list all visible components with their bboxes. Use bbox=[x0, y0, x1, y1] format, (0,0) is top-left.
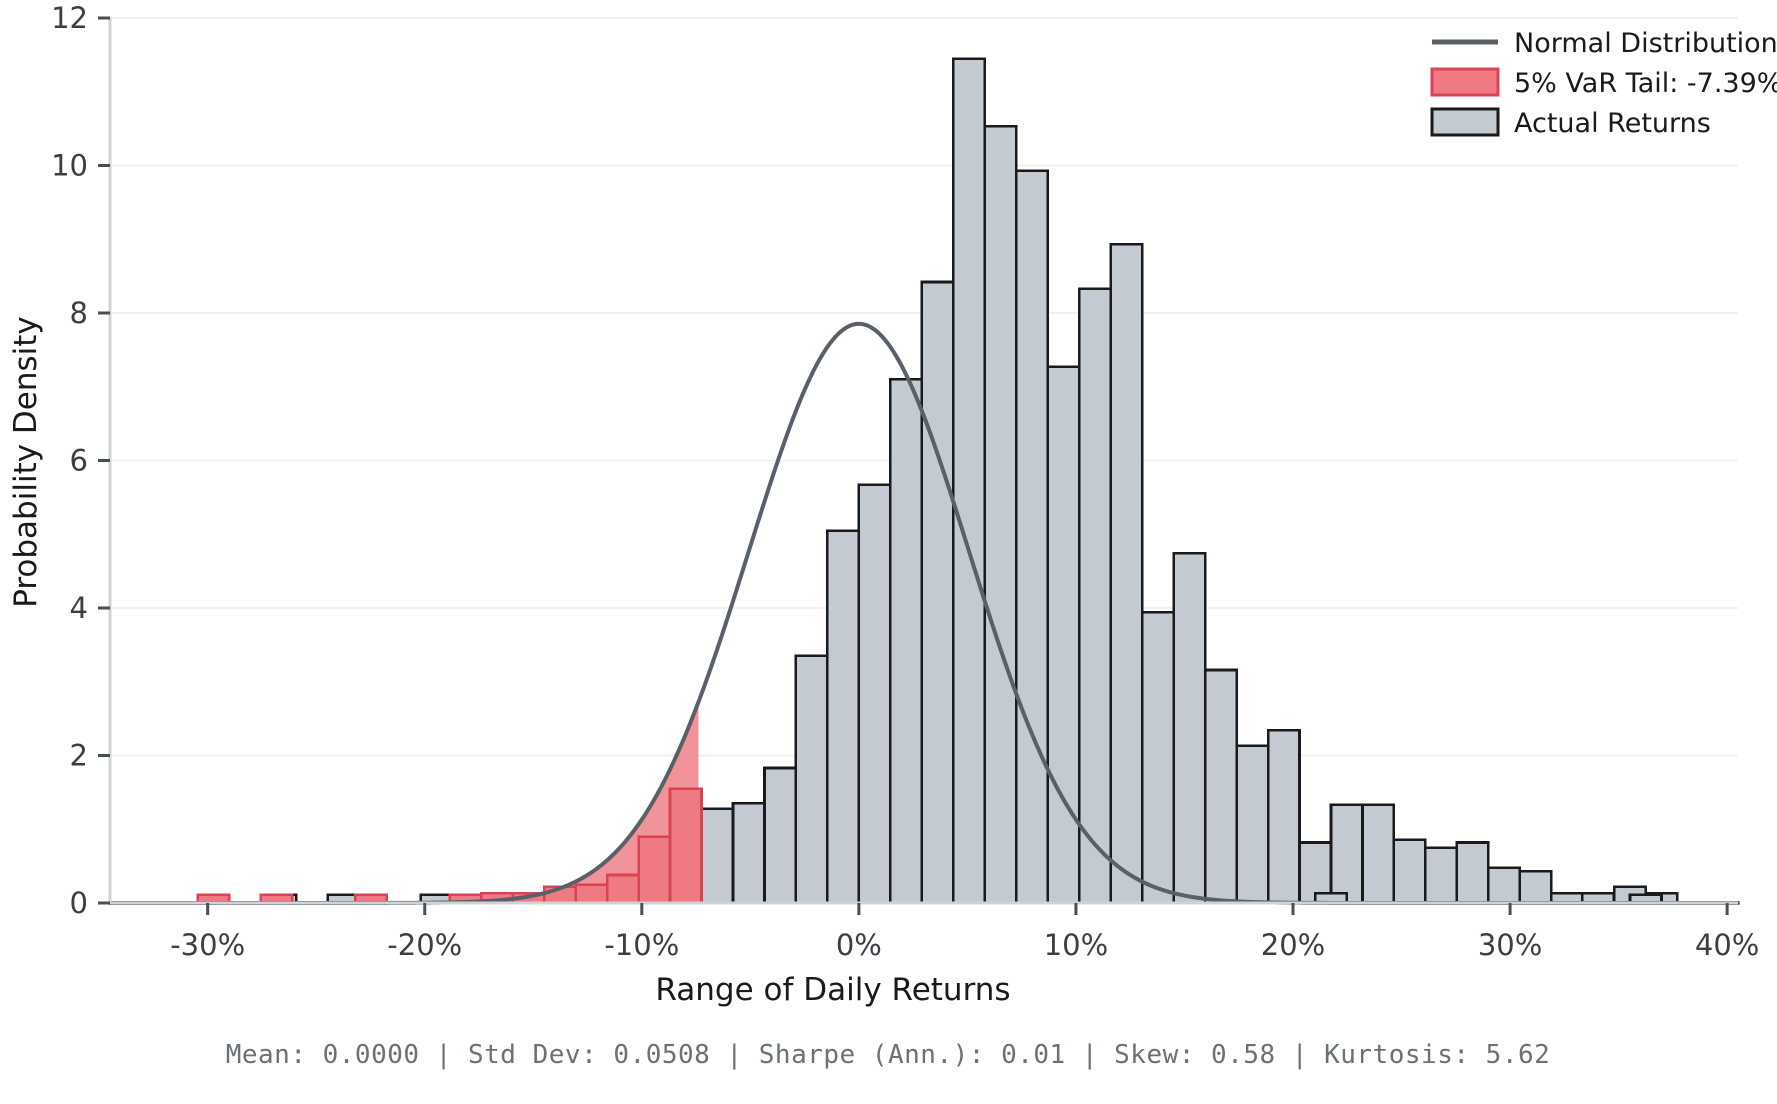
x-tick-label: -10% bbox=[604, 928, 679, 962]
y-tick-label: 8 bbox=[70, 296, 88, 330]
x-tick-label: 20% bbox=[1261, 928, 1325, 962]
y-tick-label: 12 bbox=[51, 1, 88, 35]
legend-label: Actual Returns bbox=[1514, 108, 1711, 139]
y-tick-label: 4 bbox=[70, 591, 88, 625]
legend-patch-marker bbox=[1432, 69, 1498, 95]
y-tick-label: 0 bbox=[70, 886, 88, 920]
x-tick-label: 0% bbox=[836, 928, 882, 962]
y-tick-label: 2 bbox=[70, 739, 88, 773]
legend-label: Normal Distribution bbox=[1514, 28, 1777, 59]
summary-statistics: Mean: 0.0000 | Std Dev: 0.0508 | Sharpe … bbox=[226, 1040, 1551, 1070]
x-tick-label: -20% bbox=[387, 928, 462, 962]
x-axis-title: Range of Daily Returns bbox=[655, 972, 1010, 1008]
distribution-chart: -30%-20%-10%0%10%20%30%40% 024681012 Ran… bbox=[0, 0, 1777, 1104]
x-tick-label: 40% bbox=[1695, 928, 1759, 962]
x-tick-label: -30% bbox=[170, 928, 245, 962]
legend-patch-marker bbox=[1432, 109, 1498, 135]
chart-figure: -30%-20%-10%0%10%20%30%40% 024681012 Ran… bbox=[0, 0, 1777, 1104]
legend-label: 5% VaR Tail: -7.39% bbox=[1514, 68, 1777, 99]
x-tick-label: 30% bbox=[1478, 928, 1542, 962]
y-axis-title: Probability Density bbox=[8, 316, 44, 608]
y-tick-label: 6 bbox=[70, 444, 88, 478]
y-tick-label: 10 bbox=[51, 149, 88, 183]
x-tick-label: 10% bbox=[1044, 928, 1108, 962]
